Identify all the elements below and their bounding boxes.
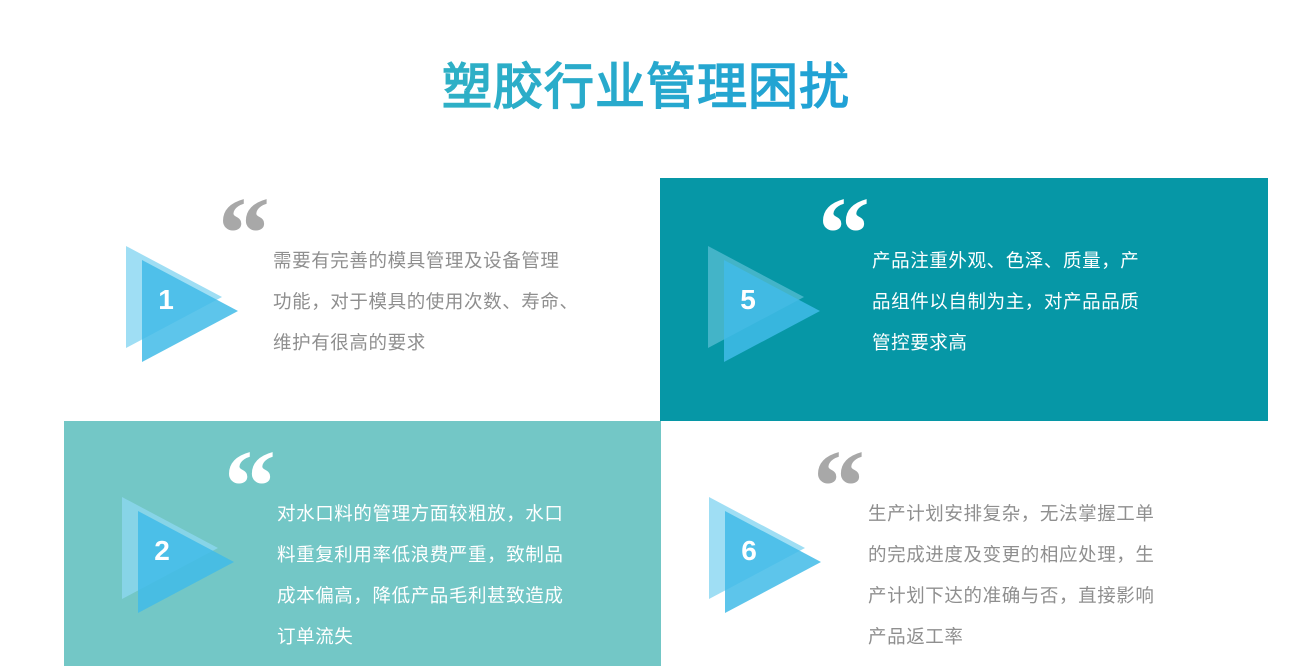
insight-text-line: 产品注重外观、色泽、质量，产 — [872, 240, 1227, 281]
insight-text-line: 料重复利用率低浪费严重，致制品 — [277, 534, 637, 575]
insight-text-6: 生产计划安排复杂，无法掌握工单 的完成进度及变更的相应处理，生 产计划下达的准确… — [868, 493, 1228, 657]
insight-text-line: 生产计划安排复杂，无法掌握工单 — [868, 493, 1228, 534]
play-triangle-icon — [114, 491, 238, 615]
insight-text-5: 产品注重外观、色泽、质量，产 品组件以自制为主，对产品品质 管控要求高 — [872, 240, 1227, 363]
arrow-badge-5: 5 — [700, 240, 824, 364]
insight-text-line: 品组件以自制为主，对产品品质 — [872, 281, 1227, 322]
quote-icon: “ — [813, 435, 863, 539]
insight-text-line: 订单流失 — [277, 616, 637, 657]
insight-text-line: 需要有完善的模具管理及设备管理 — [273, 240, 633, 281]
arrow-badge-6: 6 — [701, 491, 825, 615]
insight-card-5: 5 “ 产品注重外观、色泽、质量，产 品组件以自制为主，对产品品质 管控要求高 — [660, 178, 1268, 421]
insight-text-line: 维护有很高的要求 — [273, 322, 633, 363]
quote-icon: “ — [218, 182, 268, 286]
insight-text-2: 对水口料的管理方面较粗放，水口 料重复利用率低浪费严重，致制品 成本偏高，降低产… — [277, 493, 637, 657]
insight-text-1: 需要有完善的模具管理及设备管理 功能，对于模具的使用次数、寿命、 维护有很高的要… — [273, 240, 633, 363]
play-triangle-icon — [700, 240, 824, 364]
insight-text-line: 产品返工率 — [868, 616, 1228, 657]
insight-text-line: 管控要求高 — [872, 322, 1227, 363]
insight-card-2: 2 “ 对水口料的管理方面较粗放，水口 料重复利用率低浪费严重，致制品 成本偏高… — [64, 421, 661, 666]
insight-card-6: 6 “ 生产计划安排复杂，无法掌握工单 的完成进度及变更的相应处理，生 产计划下… — [661, 421, 1268, 666]
quote-icon: “ — [224, 435, 274, 539]
play-triangle-icon — [701, 491, 825, 615]
insight-text-line: 成本偏高，降低产品毛利甚致造成 — [277, 575, 637, 616]
insight-card-1: 1 “ 需要有完善的模具管理及设备管理 功能，对于模具的使用次数、寿命、 维护有… — [110, 178, 660, 421]
insight-text-line: 对水口料的管理方面较粗放，水口 — [277, 493, 637, 534]
insight-text-line: 产计划下达的准确与否，直接影响 — [868, 575, 1228, 616]
arrow-badge-2: 2 — [114, 491, 238, 615]
quote-icon: “ — [818, 182, 868, 286]
page-title: 塑胶行业管理困扰 — [0, 56, 1292, 118]
insight-text-line: 的完成进度及变更的相应处理，生 — [868, 534, 1228, 575]
insight-text-line: 功能，对于模具的使用次数、寿命、 — [273, 281, 633, 322]
